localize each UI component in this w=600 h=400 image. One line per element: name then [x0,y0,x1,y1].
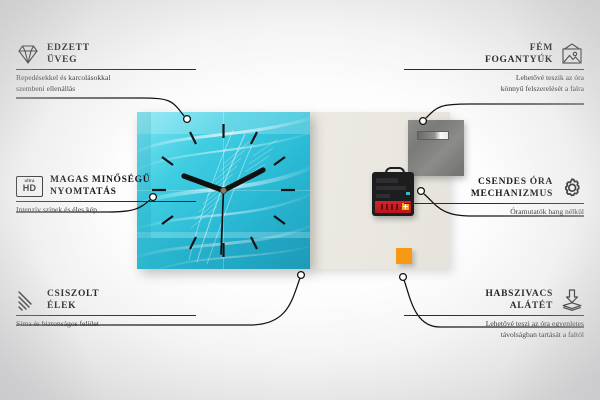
callout-header: HABSZIVACSALÁTÉT [404,288,584,312]
mechanism-loop [385,167,405,178]
callout-header: CSISZOLTÉLEK [16,288,196,312]
callout-metal-handles: FÉMFOGANTYÚK Lehetővé teszik az órakönny… [404,42,584,94]
foam-pad [396,248,412,264]
callout-tempered-glass: EDZETTÜVEG Repedésekkel és karcolásokkal… [16,42,196,94]
mechanism-ridge [376,178,398,183]
callout-header: EDZETTÜVEG [16,42,196,66]
diamond-icon [16,42,40,66]
mechanism-ridge [376,186,406,190]
picture-hanger-icon [560,42,584,66]
callout-silent-mechanism: CSENDES ÓRAMECHANIZMUS Óramutatók hang n… [404,176,584,218]
callout-polished-edges: CSISZOLTÉLEK Sima és biztonságos felület [16,288,196,330]
callout-subtitle: Lehetővé teszik az órakönnyű felszerelés… [404,73,584,94]
callout-title: CSENDES ÓRAMECHANIZMUS [471,176,553,200]
divider [16,69,196,70]
callout-high-quality-print: ultra HD MAGAS MINŐSÉGŰNYOMTATÁS Intenzí… [16,174,196,216]
divider [404,315,584,316]
callout-title: CSISZOLTÉLEK [47,288,99,312]
callout-subtitle: Repedésekkel és karcolásokkalszembeni el… [16,73,196,94]
callout-subtitle: Óramutatók hang nélkül [404,207,584,217]
callout-title: MAGAS MINŐSÉGŰNYOMTATÁS [50,174,150,198]
callout-subtitle: Sima és biztonságos felület [16,319,196,329]
callout-foam-backing: HABSZIVACSALÁTÉT Lehetővé teszi az óra e… [404,288,584,340]
callout-header: FÉMFOGANTYÚK [404,42,584,66]
divider [16,315,196,316]
callout-title: FÉMFOGANTYÚK [485,42,553,66]
divider [404,69,584,70]
ultra-hd-icon: ultra HD [16,176,43,197]
callout-title: EDZETTÜVEG [47,42,90,66]
product-infographic: EDZETTÜVEG Repedésekkel és karcolásokkal… [0,0,600,400]
callout-header: ultra HD MAGAS MINŐSÉGŰNYOMTATÁS [16,174,196,198]
divider [16,201,196,202]
foam-pad-icon [560,288,584,312]
callout-subtitle: Lehetővé teszi az óra egyenletestávolság… [404,319,584,340]
callout-subtitle: Intenzív színek és éles kép [16,205,196,215]
callout-header: CSENDES ÓRAMECHANIZMUS [404,176,584,200]
polished-edges-icon [16,288,40,312]
mechanism-ridge [376,194,390,198]
divider [404,203,584,204]
callout-title: HABSZIVACSALÁTÉT [485,288,553,312]
hanger-slot [417,131,449,140]
metal-hanger-plate [408,120,464,176]
gear-icon [560,176,584,200]
